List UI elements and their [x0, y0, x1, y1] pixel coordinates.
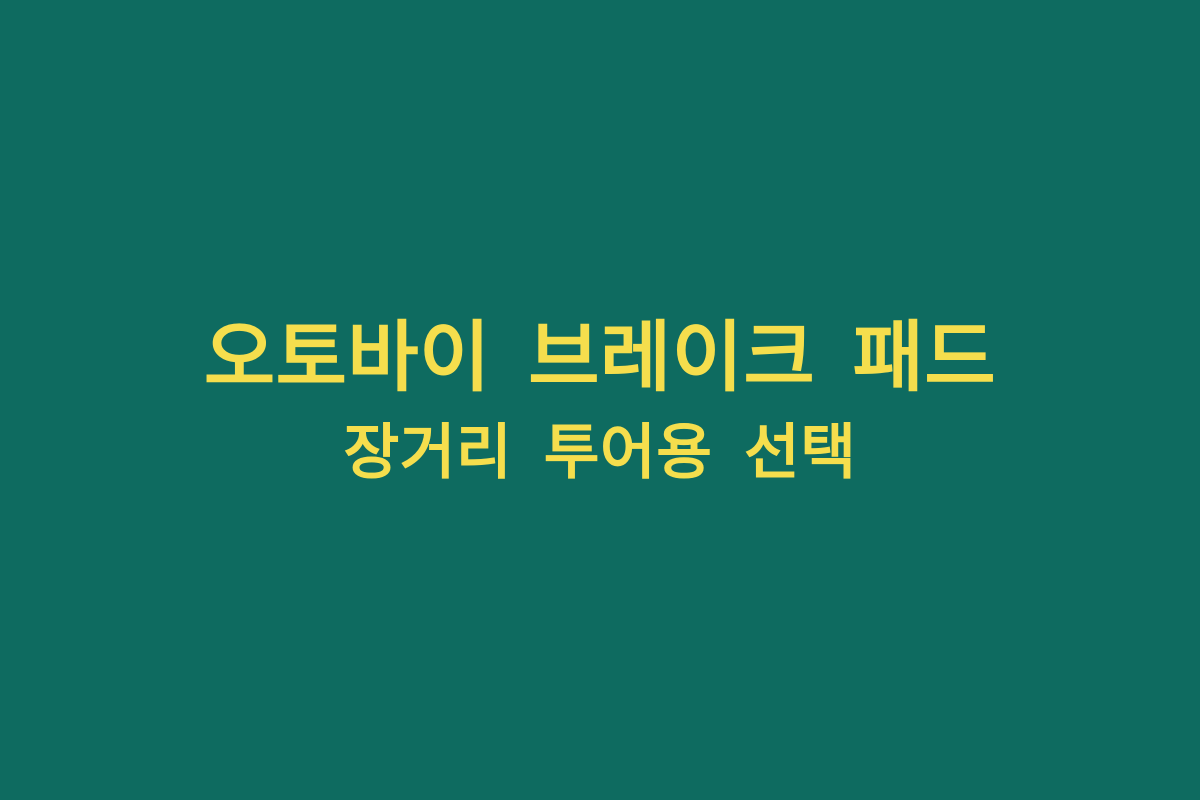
headline-line-2: 장거리 투어용 선택	[0, 412, 1200, 496]
headline-line-1: 오토바이 브레이크 패드	[0, 305, 1200, 412]
banner-card: 오토바이 브레이크 패드 장거리 투어용 선택	[0, 0, 1200, 800]
headline-block: 오토바이 브레이크 패드 장거리 투어용 선택	[0, 305, 1200, 495]
